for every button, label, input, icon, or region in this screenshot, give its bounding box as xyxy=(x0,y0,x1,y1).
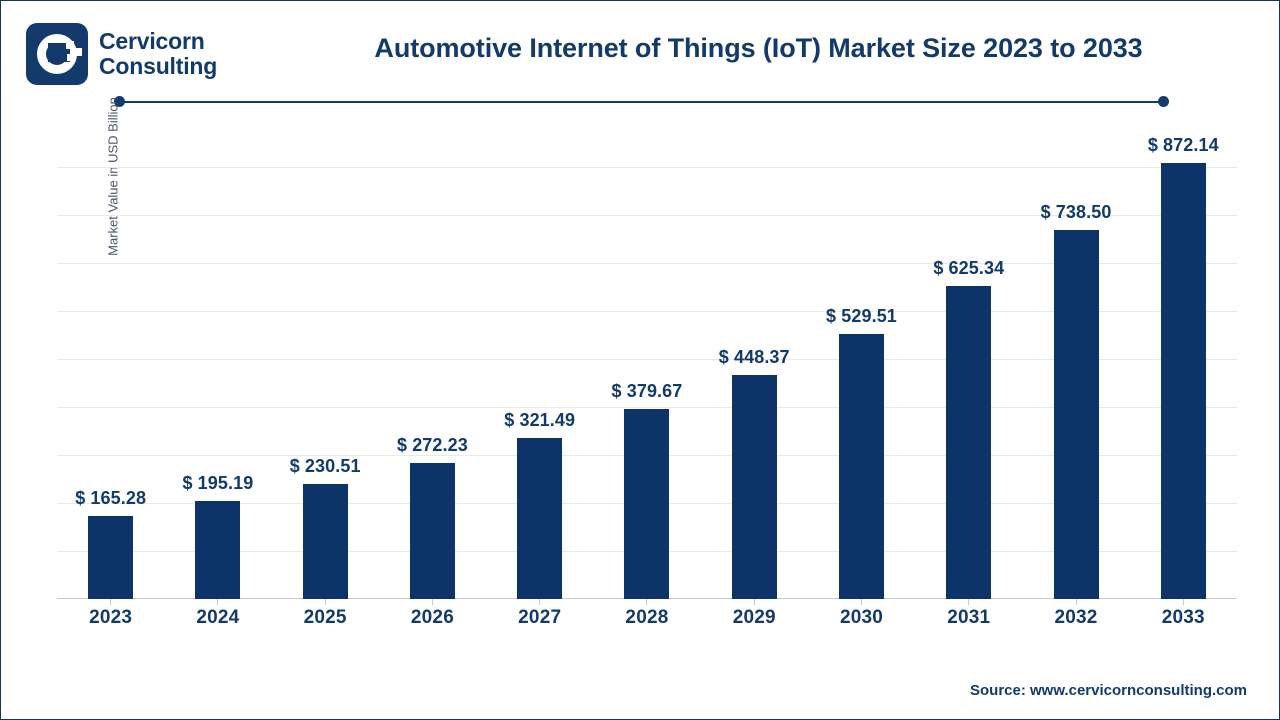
logo-pixel-3 xyxy=(67,54,74,61)
bar-value-label: $ 448.37 xyxy=(719,347,790,368)
x-axis-label: 2028 xyxy=(593,607,700,629)
bar[interactable] xyxy=(195,501,240,599)
bar[interactable] xyxy=(517,438,562,599)
bar-value-label: $ 165.28 xyxy=(75,488,146,509)
bar-value-label: $ 379.67 xyxy=(612,381,683,402)
x-axis-tick xyxy=(110,599,111,605)
x-axis-tick xyxy=(217,599,218,605)
x-axis-label: 2029 xyxy=(701,607,808,629)
x-axis-tick xyxy=(432,599,433,605)
bar[interactable] xyxy=(839,334,884,599)
bar-slot: $ 872.14 xyxy=(1130,119,1237,599)
x-axis-label: 2033 xyxy=(1130,607,1237,629)
logo-pixel-2 xyxy=(74,48,82,56)
bar-slot: $ 529.51 xyxy=(808,119,915,599)
bar-slot: $ 165.28 xyxy=(57,119,164,599)
bar-value-label: $ 321.49 xyxy=(504,410,575,431)
page-title: Automotive Internet of Things (IoT) Mark… xyxy=(286,33,1231,64)
brand-logo: Cervicorn Consulting xyxy=(26,23,217,85)
bar-value-label: $ 272.23 xyxy=(397,435,468,456)
bar-slot: $ 230.51 xyxy=(272,119,379,599)
cervicorn-c-pixel-logo-icon xyxy=(26,23,88,85)
bar[interactable] xyxy=(624,409,669,599)
x-axis-tick xyxy=(646,599,647,605)
bar[interactable] xyxy=(88,516,133,599)
header-divider xyxy=(119,101,1164,103)
x-axis-tick xyxy=(1076,599,1077,605)
bar-value-label: $ 872.14 xyxy=(1148,135,1219,156)
x-axis-label: 2032 xyxy=(1022,607,1129,629)
bar[interactable] xyxy=(946,286,991,599)
plot-area: $ 165.28$ 195.19$ 230.51$ 272.23$ 321.49… xyxy=(57,119,1237,599)
bar-value-label: $ 529.51 xyxy=(826,306,897,327)
bar-series: $ 165.28$ 195.19$ 230.51$ 272.23$ 321.49… xyxy=(57,119,1237,599)
x-axis-label: 2023 xyxy=(57,607,164,629)
x-axis-labels: 2023202420252026202720282029203020312032… xyxy=(57,607,1237,629)
bar[interactable] xyxy=(1161,163,1206,599)
bar-slot: $ 625.34 xyxy=(915,119,1022,599)
source-note: Source: www.cervicornconsulting.com xyxy=(970,682,1247,699)
x-axis-label: 2027 xyxy=(486,607,593,629)
bar-slot: $ 738.50 xyxy=(1022,119,1129,599)
bar[interactable] xyxy=(303,484,348,599)
x-axis-tick xyxy=(539,599,540,605)
bar-value-label: $ 230.51 xyxy=(290,456,361,477)
bar[interactable] xyxy=(410,463,455,599)
bar-slot: $ 448.37 xyxy=(701,119,808,599)
x-axis-tick xyxy=(968,599,969,605)
divider-dot-right xyxy=(1158,96,1169,107)
bar-slot: $ 195.19 xyxy=(164,119,271,599)
x-axis-label: 2025 xyxy=(272,607,379,629)
bar[interactable] xyxy=(732,375,777,599)
bar-slot: $ 321.49 xyxy=(486,119,593,599)
chart-canvas: Cervicorn Consulting Automotive Internet… xyxy=(0,0,1280,720)
x-axis-tick xyxy=(754,599,755,605)
logo-pixel-1 xyxy=(66,41,74,49)
bar-value-label: $ 625.34 xyxy=(933,258,1004,279)
x-axis-tick xyxy=(861,599,862,605)
header: Cervicorn Consulting Automotive Internet… xyxy=(1,1,1280,99)
x-axis-tick xyxy=(1183,599,1184,605)
x-axis-label: 2030 xyxy=(808,607,915,629)
x-axis-label: 2031 xyxy=(915,607,1022,629)
x-axis-label: 2024 xyxy=(164,607,271,629)
bar[interactable] xyxy=(1054,230,1099,599)
bar-slot: $ 272.23 xyxy=(379,119,486,599)
brand-name-line1: Cervicorn xyxy=(99,29,217,54)
x-axis-tick xyxy=(325,599,326,605)
bar-slot: $ 379.67 xyxy=(593,119,700,599)
x-axis-label: 2026 xyxy=(379,607,486,629)
bar-value-label: $ 738.50 xyxy=(1041,202,1112,223)
bar-value-label: $ 195.19 xyxy=(182,473,253,494)
